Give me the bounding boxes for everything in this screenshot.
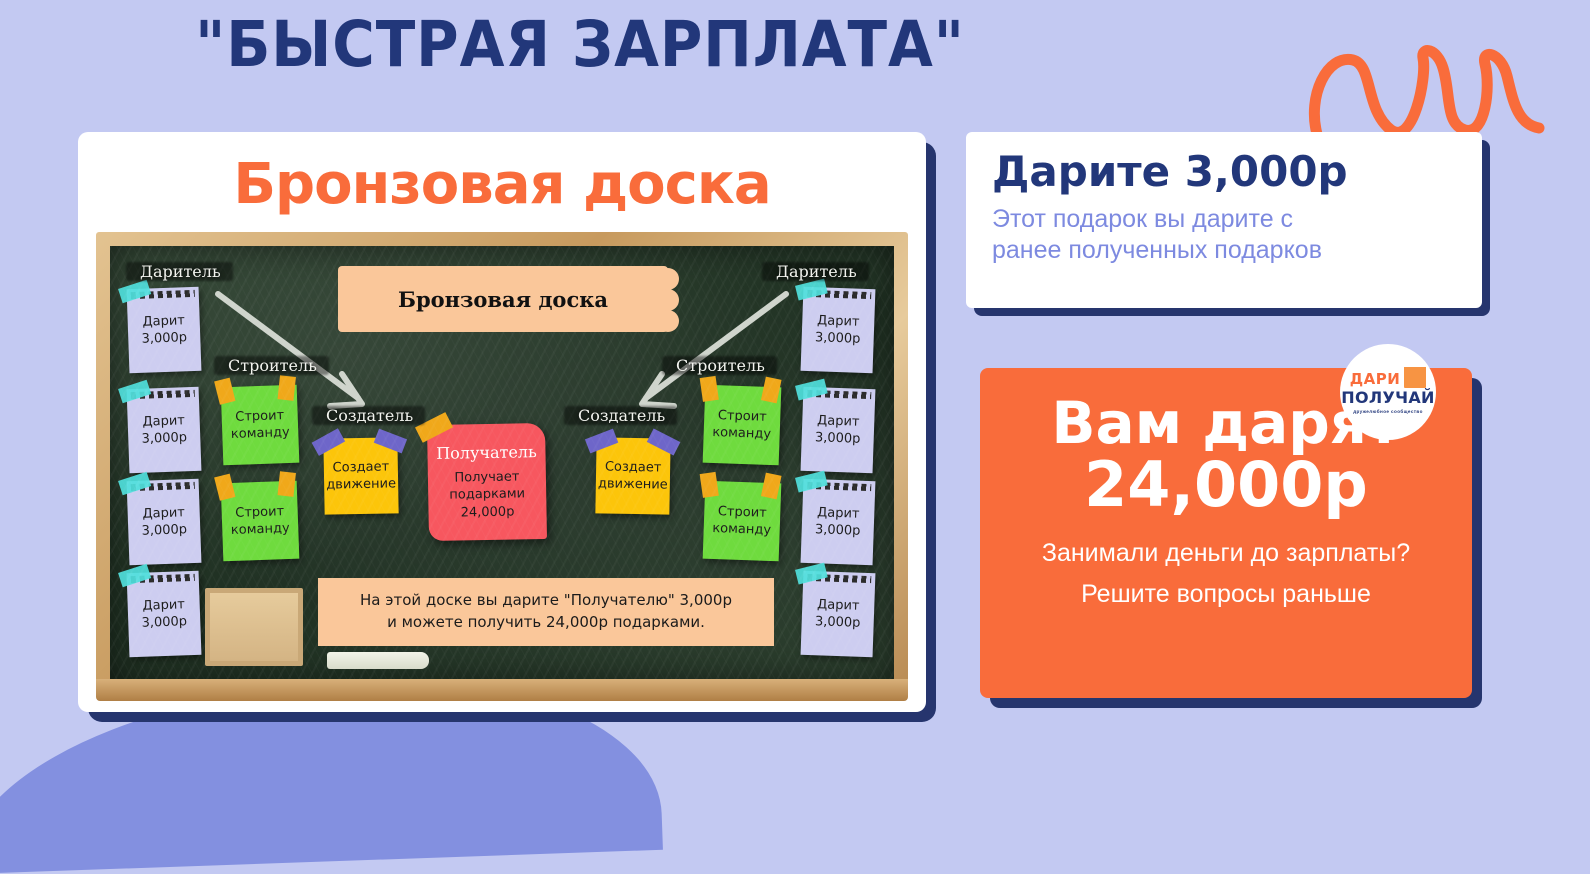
tape-icon — [278, 471, 296, 497]
note-giver-right-3[interactable]: Дарит 3,000р — [801, 479, 876, 565]
note-giver-right-4[interactable]: Дарит 3,000р — [801, 571, 876, 657]
note-line-1: Дарит — [142, 412, 185, 431]
receive-question: Занимали деньги до зарплаты? — [1042, 539, 1410, 568]
note-line-2: 3,000р — [141, 429, 187, 448]
tape-icon — [700, 472, 719, 498]
note-creator-left[interactable]: Создает движение — [323, 437, 398, 514]
chalkboard-ledge — [96, 679, 908, 701]
note-line-1: Создает — [605, 458, 662, 476]
note-line-2: 3,000р — [141, 613, 187, 632]
note-line-2: 3,000р — [815, 613, 861, 632]
gift-amount-title: Дарите 3,000р — [992, 150, 1456, 194]
note-receiver-title: Получатель — [436, 442, 537, 463]
role-label-creator-right: Создатель — [570, 404, 673, 427]
logo-tagline: дружелюбное сообщество — [1353, 409, 1423, 414]
gift-box-icon — [1404, 371, 1426, 388]
note-builder-left-1[interactable]: Строит команду — [221, 385, 300, 466]
note-line-1: Дарит — [142, 504, 185, 523]
note-giver-left-3[interactable]: Дарит 3,000р — [127, 479, 202, 565]
note-line-1: Строит — [235, 503, 284, 522]
note-line-2: команду — [712, 424, 771, 443]
note-receiver-line-3: 24,000р — [461, 503, 515, 521]
eraser — [205, 588, 303, 666]
tape-icon — [761, 377, 782, 404]
note-line-1: Дарит — [817, 312, 860, 331]
note-line-2: 3,000р — [141, 521, 187, 540]
note-giver-left-4[interactable]: Дарит 3,000р — [127, 571, 202, 657]
scallop-icon — [657, 268, 679, 290]
note-line-1: Строит — [235, 407, 284, 426]
caption-line-2: и можете получить 24,000р подарками. — [387, 612, 705, 634]
role-label-builder-right: Строитель — [668, 354, 773, 377]
note-creator-right[interactable]: Создает движение — [595, 437, 670, 514]
note-line-1: Строит — [718, 503, 767, 522]
role-label-giver-left: Даритель — [132, 260, 229, 283]
board-title: Бронзовая доска — [78, 152, 926, 217]
gift-description-line-2: ранее полученных подарков — [992, 235, 1456, 266]
note-line-2: движение — [598, 475, 668, 493]
note-line-2: 3,000р — [815, 329, 861, 348]
tape-icon — [700, 376, 719, 402]
board-header-card: Бронзовая доска — [338, 266, 668, 332]
receive-amount: 24,000р — [1084, 452, 1368, 517]
scallop-icon — [657, 310, 679, 332]
right-top-card: Дарите 3,000р Этот подарок вы дарите с р… — [966, 132, 1482, 308]
note-line-2: 3,000р — [815, 521, 861, 540]
board-caption: На этой доске вы дарите "Получателю" 3,0… — [318, 578, 774, 646]
note-giver-right-2[interactable]: Дарит 3,000р — [801, 387, 876, 473]
tape-icon — [761, 473, 782, 500]
gift-description: Этот подарок вы дарите с ранее полученны… — [992, 204, 1456, 265]
note-giver-right-1[interactable]: Дарит 3,000р — [801, 287, 876, 373]
note-line-1: Дарит — [817, 412, 860, 431]
scallop-icon — [657, 289, 679, 311]
squiggle-flourish-icon — [1295, 38, 1545, 143]
note-line-1: Дарит — [817, 596, 860, 615]
note-line-1: Строит — [718, 407, 767, 426]
page-title: "БЫСТРАЯ ЗАРПЛАТА" — [46, 8, 1113, 81]
note-giver-left-2[interactable]: Дарит 3,000р — [127, 387, 202, 473]
role-label-creator-left: Создатель — [318, 404, 421, 427]
note-line-2: 3,000р — [141, 329, 187, 348]
note-line-1: Дарит — [142, 312, 185, 331]
chalk-stick — [327, 652, 429, 669]
note-receiver-line-1: Получает — [454, 468, 519, 487]
note-receiver-line-2: подарками — [449, 486, 525, 505]
board-header-label: Бронзовая доска — [398, 287, 608, 312]
role-label-giver-right: Даритель — [768, 260, 865, 283]
note-line-2: команду — [712, 520, 771, 539]
note-builder-right-1[interactable]: Строит команду — [703, 385, 782, 466]
note-line-1: Дарит — [817, 504, 860, 523]
role-label-builder-left: Строитель — [220, 354, 325, 377]
note-builder-left-2[interactable]: Строит команду — [221, 481, 300, 562]
note-line-2: движение — [326, 475, 396, 493]
receive-answer: Решите вопросы раньше — [1081, 580, 1371, 609]
note-line-2: команду — [231, 424, 290, 443]
caption-line-1: На этой доске вы дарите "Получателю" 3,0… — [360, 590, 732, 612]
brand-logo[interactable]: ДАРИ ПОЛУЧАЙ дружелюбное сообщество — [1340, 344, 1436, 440]
gift-description-line-1: Этот подарок вы дарите с — [992, 204, 1456, 235]
logo-top-row: ДАРИ — [1350, 370, 1427, 388]
poster-stage: "БЫСТРАЯ ЗАРПЛАТА" Бронзовая доска Дарит… — [0, 0, 1590, 852]
note-builder-right-2[interactable]: Строит команду — [703, 481, 782, 562]
note-line-2: 3,000р — [815, 429, 861, 448]
note-giver-left-1[interactable]: Дарит 3,000р — [127, 287, 202, 373]
note-receiver[interactable]: Получатель Получает подарками 24,000р — [427, 423, 547, 541]
logo-word-dari: ДАРИ — [1350, 370, 1401, 388]
note-line-1: Дарит — [142, 596, 185, 615]
logo-word-poluchai: ПОЛУЧАЙ — [1341, 388, 1434, 407]
note-line-1: Создает — [332, 458, 389, 476]
note-line-2: команду — [231, 520, 290, 539]
tape-icon — [278, 375, 296, 401]
